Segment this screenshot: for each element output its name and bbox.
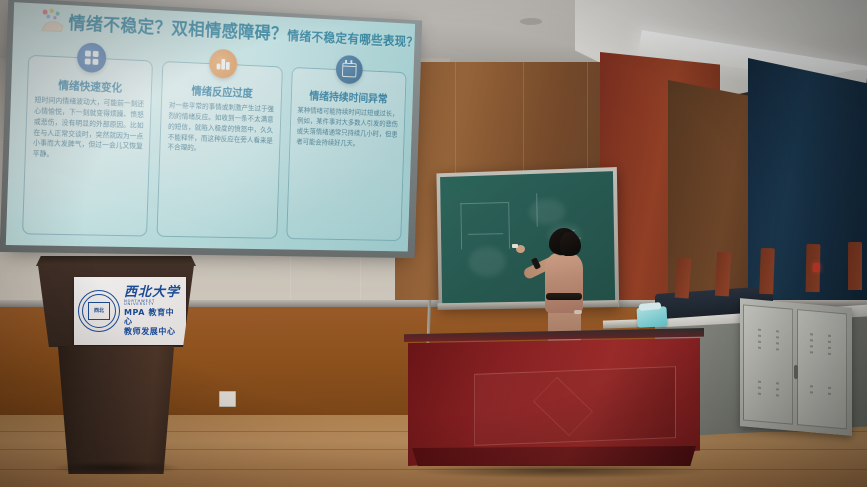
podium-sign-line2: MPA 教育中心 [124,308,182,326]
hand-with-confetti-icon [37,6,71,34]
seal-label: 西北 [88,302,110,320]
cabinet-door-right[interactable] [797,309,847,429]
podium-floor-shadow [52,461,182,475]
desk-carving [533,377,593,436]
presenter-hair-front [560,232,581,256]
presenter-torso [545,253,583,313]
slide-card: 情绪快速变化 短时间内情绪波动大，可能前一刻还心情愉悦，下一刻就变得烦躁、愤怒或… [22,55,153,237]
slide-title-main: 情绪不稳定？双相情感障碍？ [68,14,287,45]
card-title: 情绪持续时间异常 [298,87,399,106]
desk-base-trim [412,446,696,466]
university-seal-icon: 西北 [78,290,120,332]
wall-power-socket [219,391,236,407]
slide-title-sub: 情绪不稳定有哪些表现？ [287,29,415,50]
red-indicator-light [813,263,820,272]
chair-back [715,252,731,297]
calendar-icon [336,55,364,85]
podium-sign-line3: 教师发展中心 [124,327,182,336]
card-body: 短时间内情绪波动大，可能前一刻还心情愉悦，下一刻就变得烦躁、愤怒或悲伤，没有明显… [32,95,144,163]
university-name-cn: 西北大学 [124,286,182,299]
podium-sign-text: 西北大学 NORTHWEST UNIVERSITY MPA 教育中心 教师发展中… [124,286,182,337]
card-body: 某种情绪可能持续时间过短或过长，例如，某件事对大多数人引发的悲伤或失落情绪通常只… [296,105,398,150]
slide-cards: 情绪快速变化 短时间内情绪波动大，可能前一刻还心情愉悦，下一刻就变得烦躁、愤怒或… [22,55,407,241]
presentation-slide: 情绪不稳定？双相情感障碍？情绪不稳定有哪些表现？ 情绪快速变化 短时间内情绪波动… [6,2,415,251]
chalk-piece [512,244,518,248]
grid-apps-icon [76,42,106,73]
university-name-en: NORTHWEST UNIVERSITY [124,300,182,307]
podium-face: 西北 西北大学 NORTHWEST UNIVERSITY MPA 教育中心 教师… [38,265,194,347]
desk-floor-shadow [414,464,704,478]
slide-card: 情绪持续时间异常 某种情绪可能持续时间过短或过长，例如，某件事对大多数人引发的悲… [286,67,407,241]
cabinet-handle[interactable] [794,365,798,379]
presenter-watch [574,310,582,314]
lectern-podium: 西北 西北大学 NORTHWEST UNIVERSITY MPA 教育中心 教师… [22,256,210,471]
desk-inset-panel [474,366,676,446]
podium-top [36,256,196,266]
lecture-hall-photo: 情绪不稳定？双相情感障碍？情绪不稳定有哪些表现？ 情绪快速变化 短时间内情绪波动… [0,0,867,487]
card-title: 情绪反应过度 [169,82,275,102]
slide-card: 情绪反应过度 对一些平常的事情或刺激产生过于强烈的情绪反应。如收到一条不太满意的… [157,61,283,239]
bar-chart-icon [209,49,238,79]
metal-storage-cabinet [740,298,852,436]
chair-back [759,248,775,294]
cabinet-door-left[interactable] [743,304,793,424]
teacher-desk [404,328,704,478]
presenter-belt [546,293,582,300]
chair-back [675,258,692,299]
projection-screen: 情绪不稳定？双相情感障碍？情绪不稳定有哪些表现？ 情绪快速变化 短时间内情绪波动… [6,2,415,251]
card-body: 对一些平常的事情或刺激产生过于强烈的情绪反应。如收到一条不太满意的短信，就陷入极… [167,100,274,156]
podium-body [50,346,182,474]
card-title: 情绪快速变化 [35,76,145,96]
podium-sign: 西北 西北大学 NORTHWEST UNIVERSITY MPA 教育中心 教师… [74,277,186,345]
chair-back [848,242,862,290]
